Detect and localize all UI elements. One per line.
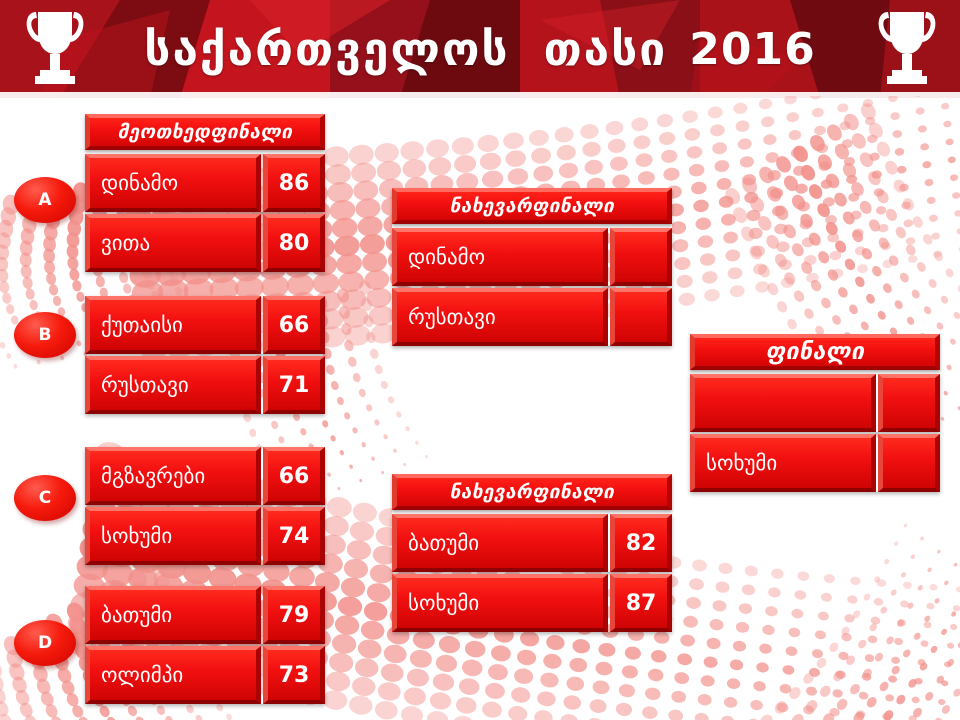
final-match[interactable]: ფინალი სოხუმი (690, 334, 940, 492)
team-name: ვითა (85, 214, 261, 272)
team-name: ბათუმი (392, 514, 608, 572)
team-name: სოხუმი (690, 434, 876, 492)
semifinal-match-1[interactable]: ნახევარფინალი დინამო რუსთავი (392, 188, 672, 346)
table-row[interactable]: სოხუმი 87 (392, 574, 672, 632)
team-score: 86 (263, 154, 325, 212)
table-row[interactable]: ბათუმი 79 (85, 586, 325, 644)
round-title-quarterfinal: მეოთხედფინალი (85, 114, 325, 150)
group-badge-d: D (14, 620, 76, 666)
team-score: 73 (263, 646, 325, 704)
group-badge-label: C (39, 488, 51, 508)
header-banner: საქართველოს თასი 2016 (0, 0, 960, 98)
team-score: 87 (610, 574, 672, 632)
table-row[interactable]: ვითა 80 (85, 214, 325, 272)
group-badge-label: B (39, 325, 52, 345)
quarterfinal-match-c[interactable]: მგზავრები 66 სოხუმი 74 (85, 447, 325, 565)
team-name: ბათუმი (85, 586, 261, 644)
team-score: 82 (610, 514, 672, 572)
table-row[interactable]: რუსთავი (392, 288, 672, 346)
team-score (878, 374, 940, 432)
quarterfinal-match-d[interactable]: ბათუმი 79 ოლიმპი 73 (85, 586, 325, 704)
group-badge-label: D (38, 633, 52, 653)
round-title-label: ფინალი (766, 339, 865, 365)
round-title-semifinal: ნახევარფინალი (392, 188, 672, 224)
banner-title: საქართველოს თასი 2016 (0, 0, 960, 98)
banner-title-main: საქართველოს (144, 22, 509, 76)
table-row[interactable]: დინამო (392, 228, 672, 286)
table-row[interactable]: რუსთავი 71 (85, 356, 325, 414)
team-name: დინამო (85, 154, 261, 212)
trophy-icon (876, 6, 938, 92)
round-title-label: ნახევარფინალი (450, 481, 615, 503)
team-score (878, 434, 940, 492)
trophy-icon (24, 6, 86, 92)
round-title-final: ფინალი (690, 334, 940, 370)
team-score: 79 (263, 586, 325, 644)
group-badge-b: B (14, 312, 76, 358)
group-badge-label: A (38, 190, 51, 210)
quarterfinal-match-a[interactable]: მეოთხედფინალი დინამო 86 ვითა 80 (85, 114, 325, 272)
team-name: დინამო (392, 228, 608, 286)
team-name (690, 374, 876, 432)
table-row[interactable]: მგზავრები 66 (85, 447, 325, 505)
team-name: ოლიმპი (85, 646, 261, 704)
table-row[interactable]: ბათუმი 82 (392, 514, 672, 572)
quarterfinal-match-b[interactable]: ქუთაისი 66 რუსთავი 71 (85, 296, 325, 414)
round-title-label: მეოთხედფინალი (117, 121, 292, 143)
team-name: სოხუმი (85, 507, 261, 565)
team-name: მგზავრები (85, 447, 261, 505)
table-row[interactable] (690, 374, 940, 432)
team-score: 74 (263, 507, 325, 565)
team-name: სოხუმი (392, 574, 608, 632)
team-name: ქუთაისი (85, 296, 261, 354)
table-row[interactable]: ოლიმპი 73 (85, 646, 325, 704)
team-name: რუსთავი (85, 356, 261, 414)
team-score: 71 (263, 356, 325, 414)
banner-title-sub: თასი (544, 22, 668, 76)
round-title-semifinal: ნახევარფინალი (392, 474, 672, 510)
team-name: რუსთავი (392, 288, 608, 346)
table-row[interactable]: დინამო 86 (85, 154, 325, 212)
team-score: 66 (263, 447, 325, 505)
semifinal-match-2[interactable]: ნახევარფინალი ბათუმი 82 სოხუმი 87 (392, 474, 672, 632)
group-badge-a: A (14, 177, 76, 223)
team-score (610, 288, 672, 346)
team-score (610, 228, 672, 286)
team-score: 80 (263, 214, 325, 272)
group-badge-c: C (14, 475, 76, 521)
table-row[interactable]: სოხუმი 74 (85, 507, 325, 565)
team-score: 66 (263, 296, 325, 354)
table-row[interactable]: სოხუმი (690, 434, 940, 492)
round-title-label: ნახევარფინალი (450, 195, 615, 217)
banner-year: 2016 (689, 24, 815, 75)
table-row[interactable]: ქუთაისი 66 (85, 296, 325, 354)
